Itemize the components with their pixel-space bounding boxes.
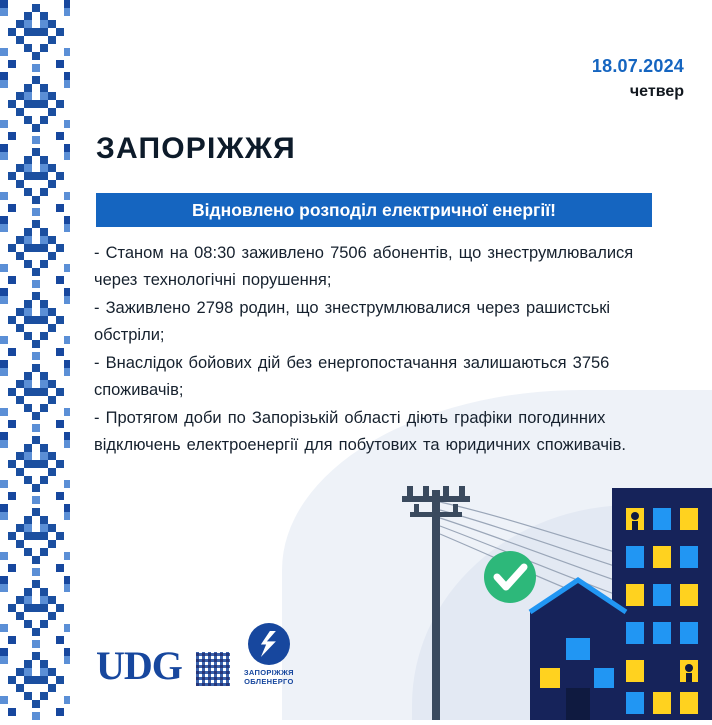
illustration (380, 460, 712, 720)
house (530, 578, 626, 720)
apartment-building (612, 488, 712, 720)
date-block: 18.07.2024 четвер (592, 56, 684, 101)
report-line: - Внаслідок бойових дій без енергопостач… (94, 350, 640, 404)
qr-code-icon[interactable] (196, 652, 230, 686)
status-banner: Відновлено розподіл електричної енергії! (96, 193, 652, 227)
ornament-pattern (0, 0, 76, 720)
weekday-value: четвер (592, 83, 684, 101)
page-title: ЗАПОРІЖЖЯ (96, 132, 296, 166)
report-line: - Протягом доби по Запорізькій області д… (94, 405, 640, 459)
udg-logo: UDG (96, 646, 182, 686)
lightning-icon (248, 623, 290, 665)
oblenergo-logo: ЗАПОРІЖЖЯ ОБЛЕНЕРГО (244, 623, 294, 686)
date-value: 18.07.2024 (592, 56, 684, 77)
logo-group: UDG ЗАПОРІЖЖЯ ОБЛЕНЕРГО (96, 623, 294, 686)
oblenergo-label: ЗАПОРІЖЖЯ ОБЛЕНЕРГО (244, 668, 294, 686)
report-line: - Заживлено 2798 родин, що знеструмлювал… (94, 295, 640, 349)
report-body: - Станом на 08:30 заживлено 7506 абонент… (94, 240, 640, 460)
report-line: - Станом на 08:30 заживлено 7506 абонент… (94, 240, 640, 294)
check-badge-icon (484, 551, 536, 603)
status-banner-label: Відновлено розподіл електричної енергії! (192, 200, 556, 221)
illustration-svg (380, 460, 712, 720)
utility-pole (402, 486, 470, 720)
ornamental-border (0, 0, 76, 720)
oblenergo-line-2: ОБЛЕНЕРГО (244, 677, 294, 686)
oblenergo-line-1: ЗАПОРІЖЖЯ (244, 668, 294, 677)
